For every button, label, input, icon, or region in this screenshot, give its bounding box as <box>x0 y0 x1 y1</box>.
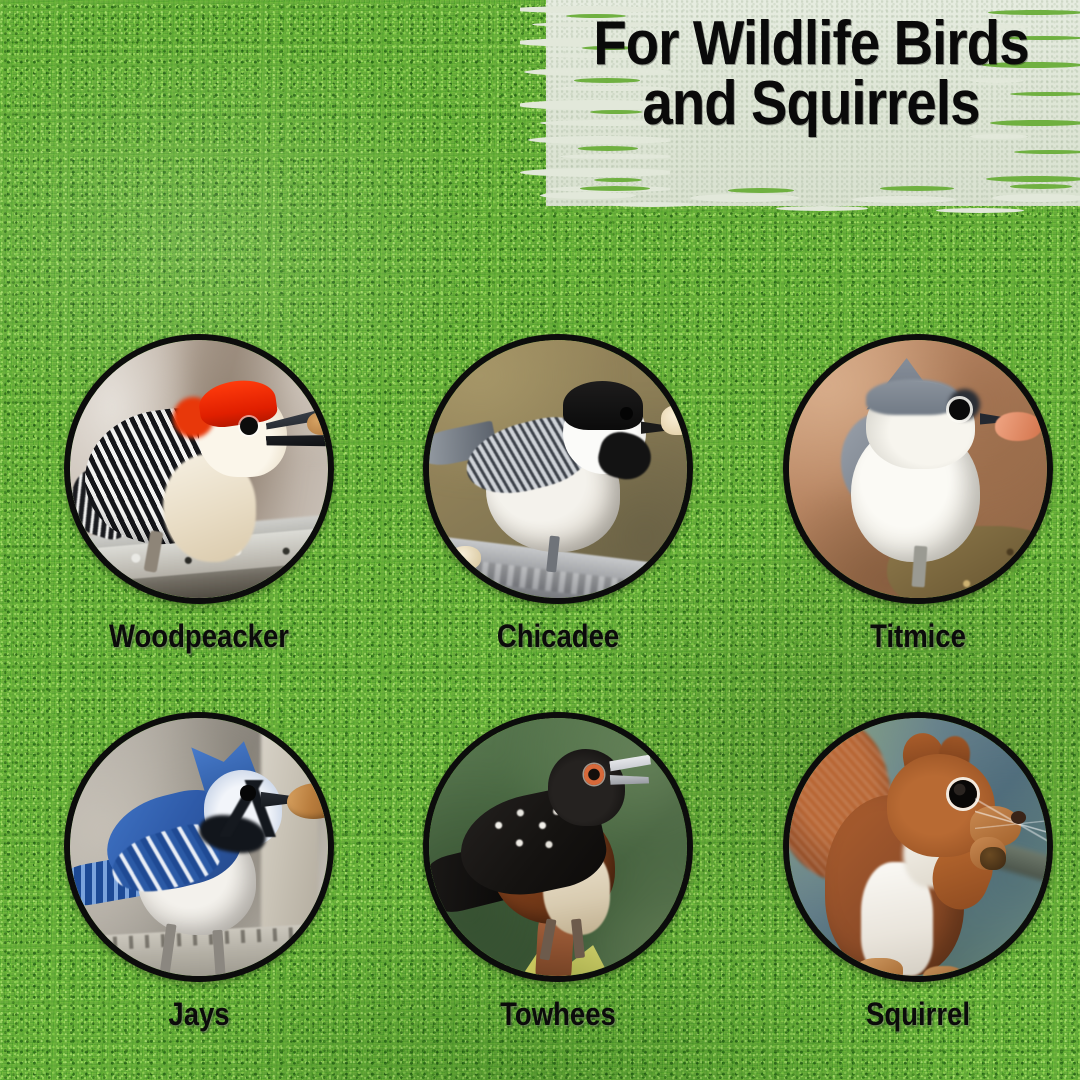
gallery-item-label: Towhees <box>442 996 674 1033</box>
spotted-towhee-photo <box>429 718 687 976</box>
red-squirrel-photo <box>789 718 1047 976</box>
headline-line-1: For Wildlife Birds <box>593 9 1028 78</box>
gallery-item-squirrel: Squirrel <box>783 712 1053 1033</box>
gallery-item-label: Woodpeacker <box>83 618 315 655</box>
gallery-item-chickadee: Chicadee <box>423 334 693 655</box>
photo-circle <box>64 712 334 982</box>
gallery-item-woodpecker: Woodpeacker <box>64 334 334 655</box>
gallery-item-label: Squirrel <box>802 996 1034 1033</box>
headline-text: For Wildlife Birds and Squirrels <box>578 14 1044 133</box>
red-bellied-woodpecker-photo <box>70 340 328 598</box>
gallery-item-label: Titmice <box>802 618 1034 655</box>
gallery-item-label: Chicadee <box>442 618 674 655</box>
tufted-titmouse-photo <box>789 340 1047 598</box>
gallery-item-towhees: Towhees <box>423 712 693 1033</box>
photo-circle <box>64 334 334 604</box>
headline-line-2: and Squirrels <box>578 74 1044 134</box>
gallery-item-label: Jays <box>83 996 315 1033</box>
photo-circle <box>423 712 693 982</box>
gallery-item-titmice: Titmice <box>783 334 1053 655</box>
photo-circle <box>423 334 693 604</box>
gallery-item-jays: Jays <box>64 712 334 1033</box>
photo-circle <box>783 334 1053 604</box>
chickadee-photo <box>429 340 687 598</box>
product-feature-image: For Wildlife Birds and Squirrels <box>0 0 1080 1080</box>
blue-jay-photo <box>70 718 328 976</box>
headline-banner: For Wildlife Birds and Squirrels <box>520 0 1080 222</box>
photo-circle <box>783 712 1053 982</box>
